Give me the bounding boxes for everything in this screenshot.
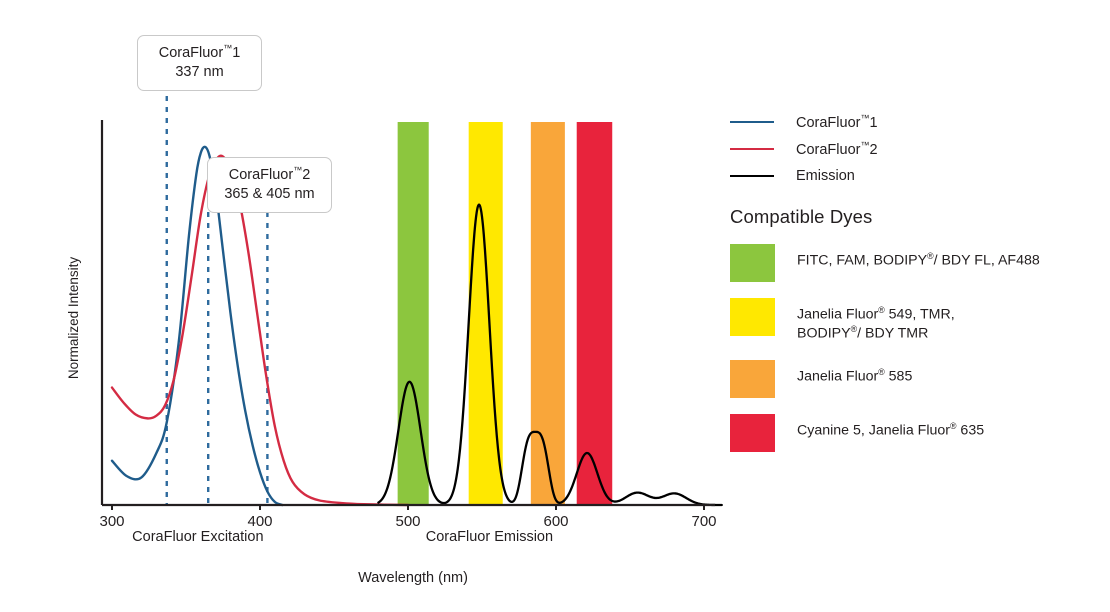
legend-dye-label-3: Cyanine 5, Janelia Fluor® 635 — [797, 414, 984, 440]
x-tick-label-500: 500 — [395, 513, 420, 530]
legend-dye-label-2: Janelia Fluor® 585 — [797, 360, 912, 386]
legend-dye-0: FITC, FAM, BODIPY®/ BDY FL, AF488 — [730, 244, 1100, 282]
legend-series-0: CoraFluor™1 — [730, 108, 1100, 135]
x-tick-label-300: 300 — [99, 513, 124, 530]
legend-dye-swatch-3 — [730, 414, 775, 452]
x-tick-label-600: 600 — [543, 513, 568, 530]
legend-dye-swatch-2 — [730, 360, 775, 398]
legend-heading: Compatible Dyes — [730, 206, 1100, 228]
legend-dye-2: Janelia Fluor® 585 — [730, 360, 1100, 398]
x-axis-title: Wavelength (nm) — [358, 570, 468, 586]
legend-dye-label-0: FITC, FAM, BODIPY®/ BDY FL, AF488 — [797, 244, 1040, 270]
legend-line-swatch-2 — [730, 175, 774, 177]
legend-line-swatch-0 — [730, 121, 774, 123]
legend-series-label-0: CoraFluor™1 — [796, 113, 878, 131]
legend: CoraFluor™1CoraFluor™2Emission Compatibl… — [730, 108, 1100, 452]
x-tick-label-700: 700 — [691, 513, 716, 530]
callout-corafluor1-line2: 337 nm — [148, 63, 251, 82]
dye-band-2 — [531, 122, 565, 505]
callout-corafluor2: CoraFluor™2 365 & 405 nm — [207, 157, 332, 213]
legend-dye-swatch-0 — [730, 244, 775, 282]
callout-corafluor2-line1: CoraFluor™2 — [229, 167, 311, 183]
legend-line-swatch-1 — [730, 148, 774, 150]
legend-series-label-1: CoraFluor™2 — [796, 140, 878, 158]
legend-dye-label-1: Janelia Fluor® 549, TMR,BODIPY®/ BDY TMR — [797, 298, 955, 344]
dye-band-3 — [577, 122, 613, 505]
x-axis-sublabel-excitation: CoraFluor Excitation — [132, 529, 263, 545]
x-axis-ticks: 300400500600700 — [99, 505, 716, 530]
x-tick-label-400: 400 — [247, 513, 272, 530]
callout-corafluor2-line2: 365 & 405 nm — [218, 185, 321, 204]
legend-series-list: CoraFluor™1CoraFluor™2Emission — [730, 108, 1100, 189]
dye-band-layer — [398, 122, 613, 505]
legend-dye-3: Cyanine 5, Janelia Fluor® 635 — [730, 414, 1100, 452]
legend-dye-swatch-1 — [730, 298, 775, 336]
y-axis-title: Normalized Intensity — [66, 257, 81, 380]
callout-corafluor1-line1: CoraFluor™1 — [159, 45, 241, 61]
callout-corafluor1: CoraFluor™1 337 nm — [137, 35, 262, 91]
legend-series-label-2: Emission — [796, 168, 855, 184]
legend-dye-1: Janelia Fluor® 549, TMR,BODIPY®/ BDY TMR — [730, 298, 1100, 344]
x-axis-sublabel-emission: CoraFluor Emission — [426, 529, 553, 545]
legend-dye-list: FITC, FAM, BODIPY®/ BDY FL, AF488Janelia… — [730, 244, 1100, 452]
spectra-figure: 300400500600700 Normalized Intensity Cor… — [0, 0, 1110, 612]
legend-series-2: Emission — [730, 162, 1100, 189]
legend-series-1: CoraFluor™2 — [730, 135, 1100, 162]
